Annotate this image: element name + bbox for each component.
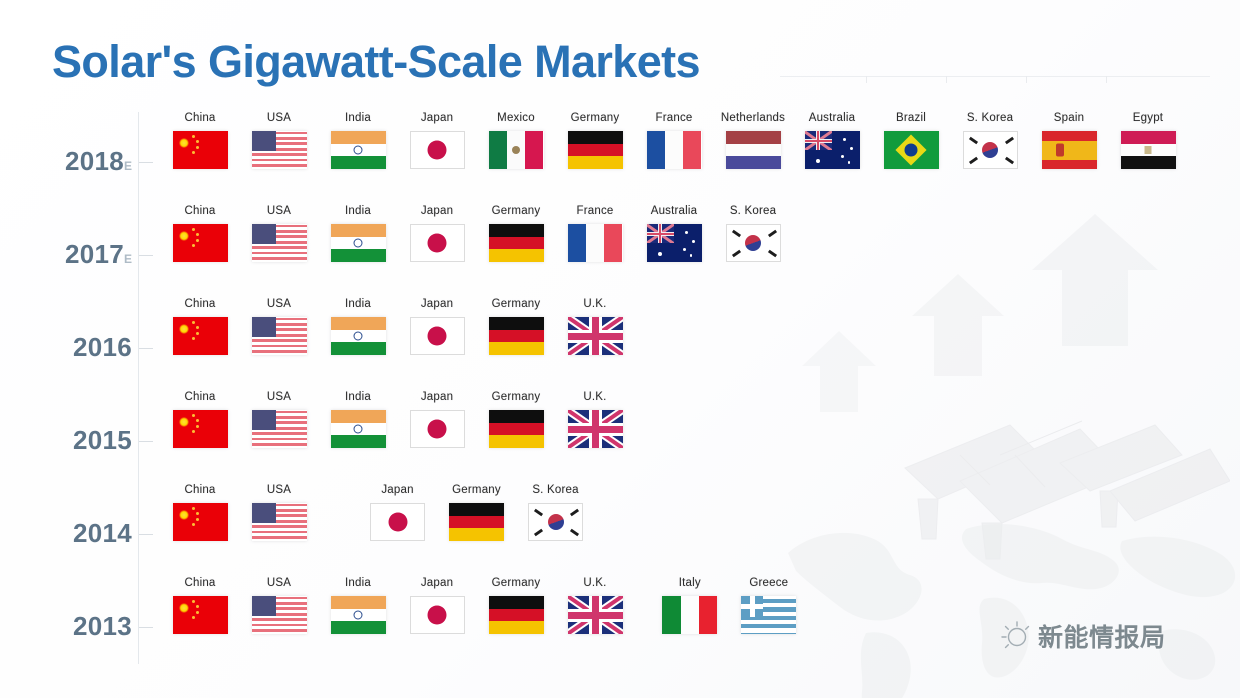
country-label: S. Korea <box>952 112 1028 124</box>
country-label: India <box>320 391 396 403</box>
country-cell[interactable]: China <box>162 205 238 264</box>
country-cell[interactable]: China <box>162 298 238 357</box>
country-label: S. Korea <box>518 484 594 496</box>
year-label: 2015 <box>40 425 132 456</box>
country-label: USA <box>241 577 317 589</box>
country-label: Brazil <box>873 112 949 124</box>
flag-eg-icon <box>1110 129 1186 171</box>
country-label: China <box>162 205 238 217</box>
flag-cn-icon <box>162 408 238 450</box>
country-label: Germany <box>478 298 554 310</box>
year-estimate-suffix: E <box>124 159 132 173</box>
country-cell[interactable]: U.K. <box>557 298 633 357</box>
axis-tick <box>139 348 153 349</box>
flag-kr-icon <box>715 222 791 264</box>
year-value: 2017 <box>65 239 124 269</box>
country-label: France <box>636 112 712 124</box>
flag-de-icon <box>557 129 633 171</box>
country-label: Japan <box>399 205 475 217</box>
timeline-row: 2017EChinaUSAIndiaJapanGermanyFranceAust… <box>0 205 1240 298</box>
country-cell[interactable]: India <box>320 112 396 171</box>
country-label: Japan <box>360 484 436 496</box>
country-cell[interactable]: Mexico <box>478 112 554 171</box>
country-label: Germany <box>557 112 633 124</box>
country-label: Mexico <box>478 112 554 124</box>
country-cell[interactable]: Japan <box>399 205 475 264</box>
top-rule-tick <box>1106 76 1107 83</box>
country-cell[interactable]: USA <box>241 484 317 543</box>
country-label: USA <box>241 484 317 496</box>
country-label: Italy <box>652 577 728 589</box>
year-value: 2018 <box>65 146 124 176</box>
year-value: 2015 <box>73 425 132 455</box>
flag-in-icon <box>320 594 396 636</box>
country-cell[interactable]: Greece <box>731 577 807 636</box>
flag-de-icon <box>478 594 554 636</box>
country-cell[interactable]: Japan <box>399 577 475 636</box>
flag-jp-icon <box>399 222 475 264</box>
country-label: Germany <box>478 391 554 403</box>
flag-cn-icon <box>162 501 238 543</box>
flag-jp-icon <box>399 408 475 450</box>
flag-us-icon <box>241 222 317 264</box>
country-label: U.K. <box>557 298 633 310</box>
flag-au-icon <box>636 222 712 264</box>
country-label: Egypt <box>1110 112 1186 124</box>
country-label: Japan <box>399 298 475 310</box>
country-cell[interactable]: Germany <box>478 205 554 264</box>
flag-in-icon <box>320 315 396 357</box>
watermark-text: 新能情报局 <box>1038 618 1166 654</box>
flag-br-icon <box>873 129 949 171</box>
top-rule-tick <box>866 76 867 83</box>
axis-tick <box>139 627 153 628</box>
country-cell[interactable]: Japan <box>399 298 475 357</box>
country-label: Germany <box>439 484 515 496</box>
country-cell[interactable]: Germany <box>557 112 633 171</box>
country-cell[interactable]: U.K. <box>557 391 633 450</box>
flag-it-icon <box>652 594 728 636</box>
country-cell[interactable]: Germany <box>478 577 554 636</box>
country-cell[interactable]: India <box>320 298 396 357</box>
country-label: Germany <box>478 205 554 217</box>
slide-canvas: Solar's Gigawatt-Scale Markets 2018EChin… <box>0 0 1240 698</box>
flag-us-icon <box>241 129 317 171</box>
country-cell[interactable]: USA <box>241 112 317 171</box>
flag-us-icon <box>241 408 317 450</box>
flag-es-icon <box>1031 129 1107 171</box>
country-label: Australia <box>794 112 870 124</box>
country-cell[interactable]: USA <box>241 391 317 450</box>
flag-in-icon <box>320 408 396 450</box>
flag-cn-icon <box>162 222 238 264</box>
timeline-row: 2018EChinaUSAIndiaJapanMexicoGermanyFran… <box>0 112 1240 205</box>
flag-de-icon <box>478 408 554 450</box>
flag-gb-icon <box>557 594 633 636</box>
watermark-logo: 新能情报局 <box>1000 618 1166 654</box>
country-cell[interactable]: France <box>636 112 712 171</box>
flag-mx-icon <box>478 129 554 171</box>
country-cell[interactable]: S. Korea <box>518 484 594 543</box>
timeline-row: 2016ChinaUSAIndiaJapanGermanyU.K. <box>0 298 1240 391</box>
country-cell[interactable]: India <box>320 391 396 450</box>
country-cell[interactable]: China <box>162 484 238 543</box>
country-cell[interactable]: USA <box>241 577 317 636</box>
country-label: China <box>162 577 238 589</box>
country-label: USA <box>241 205 317 217</box>
timeline-row: 2015ChinaUSAIndiaJapanGermanyU.K. <box>0 391 1240 484</box>
country-label: China <box>162 112 238 124</box>
country-cell[interactable]: USA <box>241 298 317 357</box>
flag-gr-icon <box>731 594 807 636</box>
flag-au-icon <box>794 129 870 171</box>
country-cell[interactable]: France <box>557 205 633 264</box>
flag-jp-icon <box>399 594 475 636</box>
country-label: Japan <box>399 112 475 124</box>
flag-us-icon <box>241 501 317 543</box>
country-label: U.K. <box>557 577 633 589</box>
flag-in-icon <box>320 129 396 171</box>
country-cell[interactable]: Australia <box>636 205 712 264</box>
country-cell[interactable]: China <box>162 577 238 636</box>
country-cell[interactable]: Germany <box>478 298 554 357</box>
year-label: 2014 <box>40 518 132 549</box>
country-label: India <box>320 298 396 310</box>
country-label: China <box>162 391 238 403</box>
top-rule-tick <box>946 76 947 83</box>
country-label: Spain <box>1031 112 1107 124</box>
country-label: Netherlands <box>715 112 791 124</box>
axis-tick <box>139 162 153 163</box>
flag-cn-icon <box>162 315 238 357</box>
country-cell[interactable]: Germany <box>478 391 554 450</box>
country-label: Japan <box>399 577 475 589</box>
country-label: Japan <box>399 391 475 403</box>
country-cell[interactable]: Spain <box>1031 112 1107 171</box>
country-label: Germany <box>478 577 554 589</box>
country-cell[interactable]: Egypt <box>1110 112 1186 171</box>
country-cell[interactable]: India <box>320 205 396 264</box>
top-rule-tick <box>1026 76 1027 83</box>
flag-cn-icon <box>162 129 238 171</box>
country-label: U.K. <box>557 391 633 403</box>
flag-kr-icon <box>518 501 594 543</box>
country-cell[interactable]: Germany <box>439 484 515 543</box>
flag-jp-icon <box>399 315 475 357</box>
flag-de-icon <box>478 315 554 357</box>
year-label: 2016 <box>40 332 132 363</box>
country-label: S. Korea <box>715 205 791 217</box>
page-title: Solar's Gigawatt-Scale Markets <box>52 36 700 88</box>
country-cell[interactable]: Japan <box>399 112 475 171</box>
flag-jp-icon <box>399 129 475 171</box>
country-cell[interactable]: China <box>162 112 238 171</box>
axis-tick <box>139 534 153 535</box>
country-label: Australia <box>636 205 712 217</box>
country-cell[interactable]: S. Korea <box>715 205 791 264</box>
country-cell[interactable]: China <box>162 391 238 450</box>
country-label: India <box>320 577 396 589</box>
flag-in-icon <box>320 222 396 264</box>
year-value: 2016 <box>73 332 132 362</box>
country-cell[interactable]: Netherlands <box>715 112 791 171</box>
flag-fr-icon <box>636 129 712 171</box>
country-cell[interactable]: Italy <box>652 577 728 636</box>
top-divider-rule <box>780 76 1210 77</box>
flag-jp-icon <box>360 501 436 543</box>
flag-de-icon <box>439 501 515 543</box>
country-cell[interactable]: USA <box>241 205 317 264</box>
country-label: USA <box>241 391 317 403</box>
country-cell[interactable]: U.K. <box>557 577 633 636</box>
axis-tick <box>139 441 153 442</box>
year-label: 2018E <box>40 146 132 177</box>
country-cell[interactable]: India <box>320 577 396 636</box>
country-label: USA <box>241 112 317 124</box>
country-cell[interactable]: Japan <box>360 484 436 543</box>
country-label: USA <box>241 298 317 310</box>
flag-fr-icon <box>557 222 633 264</box>
flag-cn-icon <box>162 594 238 636</box>
year-label: 2013 <box>40 611 132 642</box>
country-cell[interactable]: S. Korea <box>952 112 1028 171</box>
sun-circle-icon <box>1000 619 1034 653</box>
flag-nl-icon <box>715 129 791 171</box>
flag-de-icon <box>478 222 554 264</box>
year-estimate-suffix: E <box>124 252 132 266</box>
flag-kr-icon <box>952 129 1028 171</box>
country-cell[interactable]: Brazil <box>873 112 949 171</box>
country-label: China <box>162 298 238 310</box>
year-value: 2013 <box>73 611 132 641</box>
flag-gb-icon <box>557 315 633 357</box>
flag-us-icon <box>241 315 317 357</box>
year-label: 2017E <box>40 239 132 270</box>
flag-us-icon <box>241 594 317 636</box>
timeline-row: 2014ChinaUSAJapanGermanyS. Korea <box>0 484 1240 577</box>
country-cell[interactable]: Australia <box>794 112 870 171</box>
country-label: Greece <box>731 577 807 589</box>
flag-gb-icon <box>557 408 633 450</box>
country-label: China <box>162 484 238 496</box>
country-label: France <box>557 205 633 217</box>
year-value: 2014 <box>73 518 132 548</box>
country-label: India <box>320 112 396 124</box>
axis-tick <box>139 255 153 256</box>
country-label: India <box>320 205 396 217</box>
country-cell[interactable]: Japan <box>399 391 475 450</box>
